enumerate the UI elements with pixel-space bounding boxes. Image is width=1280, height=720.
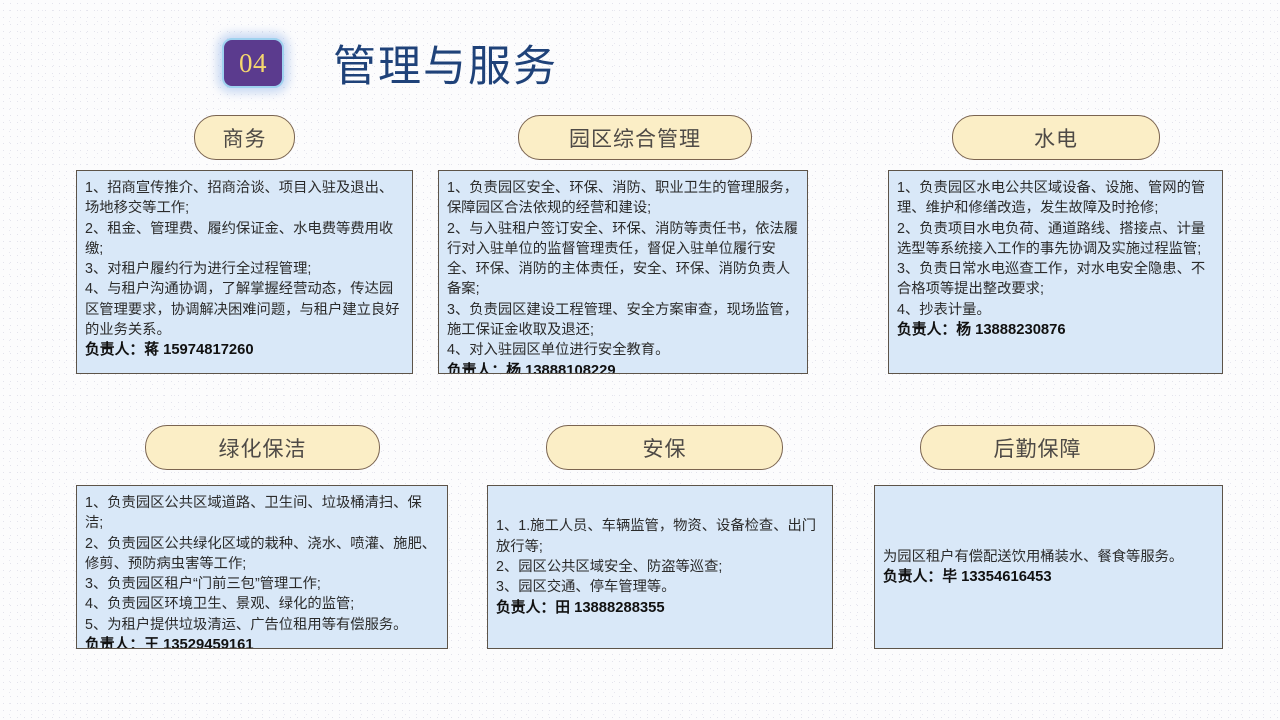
card-owner: 负责人：杨 13888230876 <box>897 320 1214 341</box>
card-body-business: 1、招商宣传推介、招商洽谈、项目入驻及退出、场地移交等工作; 2、租金、管理费、… <box>76 170 413 374</box>
card-header-park-management[interactable]: 园区综合管理 <box>518 115 752 160</box>
card-header-utilities[interactable]: 水电 <box>952 115 1160 160</box>
card-header-label: 绿化保洁 <box>219 433 307 463</box>
card-description: 1、1.施工人员、车辆监管，物资、设备检查、出门放行等; 2、园区公共区域安全、… <box>496 516 824 597</box>
page-title: 管理与服务 <box>333 32 558 94</box>
card-owner: 负责人：蒋 15974817260 <box>85 340 404 361</box>
card-body-greening-cleaning: 1、负责园区公共区域道路、卫生间、垃圾桶清扫、保洁; 2、负责园区公共绿化区域的… <box>76 485 448 649</box>
card-body-security: 1、1.施工人员、车辆监管，物资、设备检查、出门放行等; 2、园区公共区域安全、… <box>487 485 833 649</box>
card-header-label: 商务 <box>223 123 267 153</box>
section-number-label: 04 <box>239 50 267 77</box>
card-body-park-management: 1、负责园区安全、环保、消防、职业卫生的管理服务，保障园区合法依规的经营和建设;… <box>438 170 808 374</box>
card-description: 1、负责园区安全、环保、消防、职业卫生的管理服务，保障园区合法依规的经营和建设;… <box>447 178 799 361</box>
card-owner: 负责人：田 13888288355 <box>496 598 824 619</box>
section-number-badge: 04 <box>222 38 284 88</box>
card-body-logistics-support: 为园区租户有偿配送饮用桶装水、餐食等服务。 负责人：毕 13354616453 <box>874 485 1223 649</box>
card-header-label: 水电 <box>1034 123 1078 153</box>
card-owner: 负责人：杨 13888108229 <box>447 361 799 374</box>
card-header-greening-cleaning[interactable]: 绿化保洁 <box>145 425 380 470</box>
slide-title-row: 04 管理与服务 <box>0 14 1280 84</box>
card-description: 1、负责园区公共区域道路、卫生间、垃圾桶清扫、保洁; 2、负责园区公共绿化区域的… <box>85 493 439 635</box>
card-body-utilities: 1、负责园区水电公共区域设备、设施、管网的管理、维护和修缮改造，发生故障及时抢修… <box>888 170 1223 374</box>
card-description: 为园区租户有偿配送饮用桶装水、餐食等服务。 <box>883 547 1214 567</box>
card-header-label: 安保 <box>643 433 687 463</box>
slide-canvas: 04 管理与服务 商务 1、招商宣传推介、招商洽谈、项目入驻及退出、场地移交等工… <box>0 0 1280 720</box>
card-owner: 负责人：王 13529459161 <box>85 635 439 649</box>
card-header-security[interactable]: 安保 <box>546 425 783 470</box>
card-header-label: 园区综合管理 <box>569 123 701 153</box>
card-owner: 负责人：毕 13354616453 <box>883 567 1214 588</box>
card-header-label: 后勤保障 <box>994 433 1082 463</box>
card-header-logistics-support[interactable]: 后勤保障 <box>920 425 1155 470</box>
card-description: 1、招商宣传推介、招商洽谈、项目入驻及退出、场地移交等工作; 2、租金、管理费、… <box>85 178 404 340</box>
card-description: 1、负责园区水电公共区域设备、设施、管网的管理、维护和修缮改造，发生故障及时抢修… <box>897 178 1214 320</box>
card-header-business[interactable]: 商务 <box>194 115 295 160</box>
